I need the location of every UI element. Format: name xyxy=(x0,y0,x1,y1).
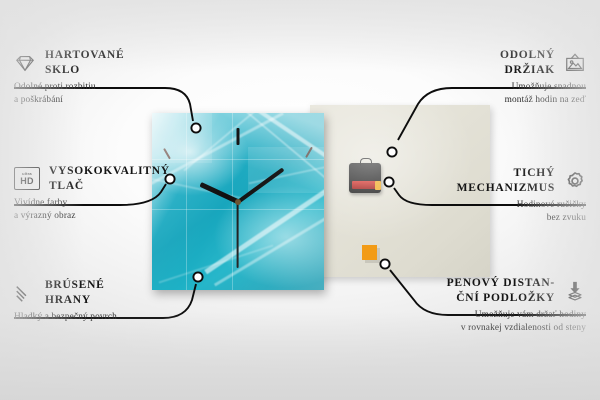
clock-tick-12 xyxy=(237,128,240,145)
diagonal-lines-icon xyxy=(14,282,36,304)
feature-title-line1: ODOLNÝ xyxy=(500,49,555,61)
feature-title-line2: ČNÍ PODLOŽKY xyxy=(456,292,555,304)
clock-second-hand xyxy=(237,202,239,268)
foam-spacer-pad xyxy=(362,245,377,260)
clock-tick-11 xyxy=(163,147,171,159)
feature-sub-line2: montáž hodin na zeď xyxy=(505,95,586,105)
clock-tick-1 xyxy=(305,146,313,158)
picture-frame-icon xyxy=(564,52,586,74)
feature-sub-line1: Hodinové ručičky xyxy=(517,200,586,210)
feature-sub-line1: Vivídne farby xyxy=(14,198,67,208)
product-infographic: HARTOVANÉ SKLO Odolné proti rozbitiu a p… xyxy=(0,0,600,400)
feature-title-line2: TLAČ xyxy=(49,180,84,192)
feature-high-quality-print: ultra HD VYSOKOKVALITNÝ TLAČ Vivídne far… xyxy=(14,164,184,222)
feature-durable-holder: ODOLNÝ DRŽIAK Umožňuje snadnou montáž ho… xyxy=(411,48,586,106)
feature-title-line1: BRÚSENÉ xyxy=(45,279,105,291)
battery xyxy=(352,181,378,189)
feature-silent-mechanism: TICHÝ MECHANIZMUS Hodinové ručičky bez z… xyxy=(401,166,586,224)
feature-title-line2: MECHANIZMUS xyxy=(457,182,555,194)
feature-title-line2: HRANY xyxy=(45,294,91,306)
feature-sub-line1: Umožňuje vám držať hodiny xyxy=(475,310,586,320)
feature-sub-line2: a poškrábání xyxy=(14,95,63,105)
feature-sub-line1: Odolné proti rozbitiu xyxy=(14,82,96,92)
feature-title-line1: TICHÝ xyxy=(514,167,555,179)
clock-center-pin xyxy=(235,199,241,205)
feature-sub-line2: bez zvuku xyxy=(547,213,586,223)
feature-title-line1: HARTOVANÉ xyxy=(45,49,124,61)
feature-title-line2: DRŽIAK xyxy=(504,64,555,76)
badge-ultra-label: ultra xyxy=(22,172,32,176)
feature-sub-line2: v rovnakej vzdialenosti od steny xyxy=(461,323,586,333)
feature-title-line2: SKLO xyxy=(45,64,80,76)
ultra-hd-badge-icon: ultra HD xyxy=(14,167,40,190)
feature-tempered-glass: HARTOVANÉ SKLO Odolné proti rozbitiu a p… xyxy=(14,48,184,106)
feature-foam-spacers: PENOVÝ DISTAN- ČNÍ PODLOŽKY Umožňuje vám… xyxy=(386,276,586,334)
gear-icon xyxy=(564,170,586,192)
feature-sub-line2: a výrazný obraz xyxy=(14,211,76,221)
diamond-icon xyxy=(14,52,36,74)
feature-title-line1: VYSOKOKVALITNÝ xyxy=(49,165,170,177)
down-arrow-stack-icon xyxy=(564,280,586,302)
battery-plus-terminal xyxy=(375,181,381,190)
feature-ground-edges: BRÚSENÉ HRANY Hladký a bezpečný povrch xyxy=(14,278,204,324)
badge-hd-label: HD xyxy=(20,177,33,186)
feature-sub-line1: Hladký a bezpečný povrch xyxy=(14,312,117,322)
movement-hanger-icon xyxy=(360,158,372,166)
feature-sub-line1: Umožňuje snadnou xyxy=(512,82,586,92)
feature-title-line1: PENOVÝ DISTAN- xyxy=(447,277,555,289)
quartz-movement xyxy=(349,163,381,193)
